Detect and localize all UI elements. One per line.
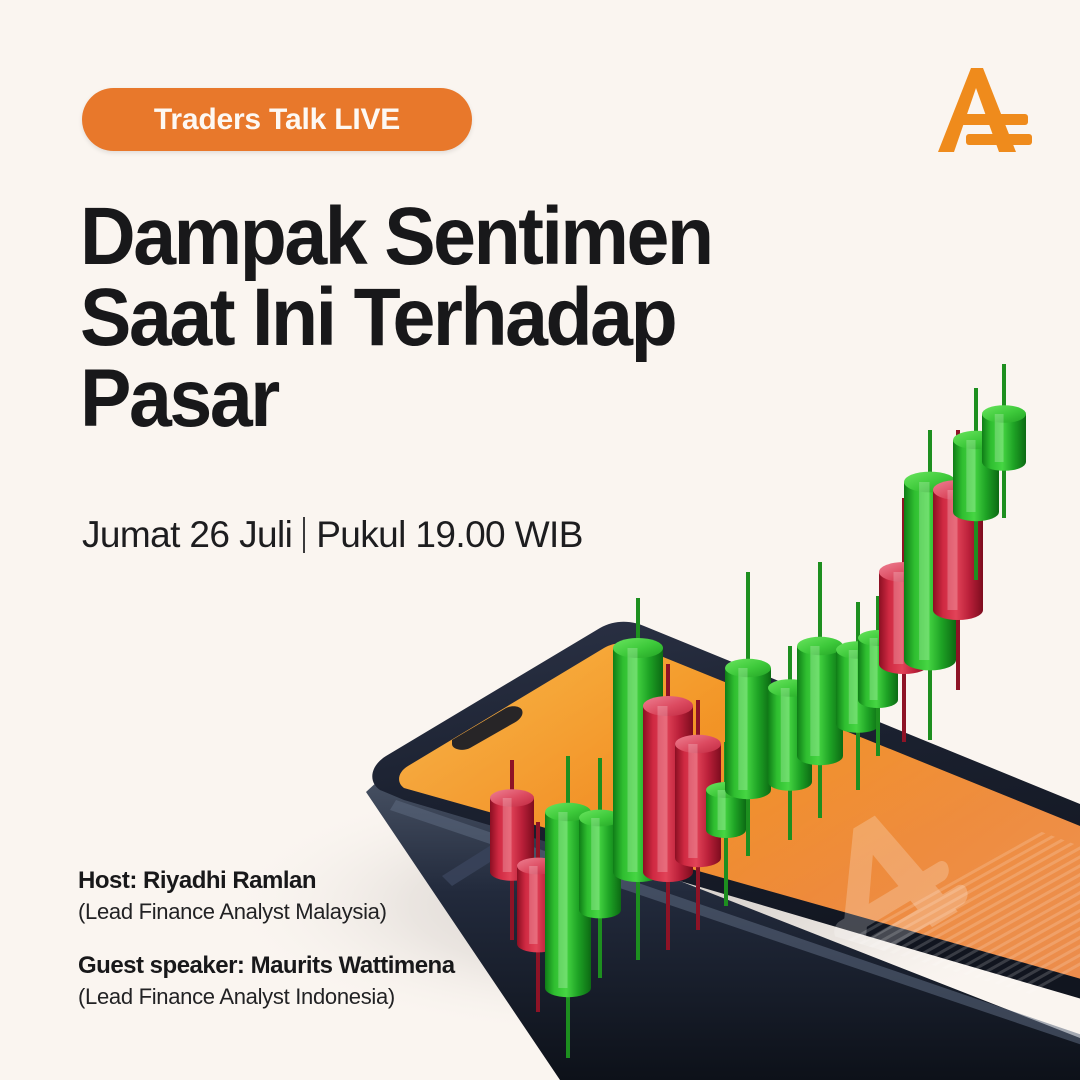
- brand-a-logo-icon: [936, 60, 1032, 160]
- host-name: Host: Riyadhi Ramlan: [78, 866, 455, 895]
- title-line-3: Pasar: [80, 358, 757, 439]
- host-role: (Lead Finance Analyst Malaysia): [78, 898, 455, 927]
- guest-role: (Lead Finance Analyst Indonesia): [78, 983, 455, 1012]
- live-badge-label: Traders Talk LIVE: [154, 103, 400, 137]
- title-line-1: Dampak Sentimen: [80, 196, 757, 277]
- speaker-credits: Host: Riyadhi Ramlan (Lead Finance Analy…: [78, 866, 455, 1012]
- event-time: Pukul 19.00 WIB: [316, 514, 583, 556]
- live-badge[interactable]: Traders Talk LIVE: [82, 88, 472, 151]
- event-date: Jumat 26 Juli: [82, 514, 292, 556]
- host-credit: Host: Riyadhi Ramlan (Lead Finance Analy…: [78, 866, 455, 927]
- page-title: Dampak Sentimen Saat Ini Terhadap Pasar: [80, 196, 800, 440]
- guest-credit: Guest speaker: Maurits Wattimena (Lead F…: [78, 951, 455, 1012]
- title-line-2: Saat Ini Terhadap: [80, 277, 757, 358]
- event-schedule: Jumat 26 Juli Pukul 19.00 WIB: [82, 514, 583, 556]
- schedule-separator: [303, 517, 305, 553]
- guest-name: Guest speaker: Maurits Wattimena: [78, 951, 455, 980]
- poster-canvas: Traders Talk LIVE Dampak Sentimen Saat I…: [0, 0, 1080, 1080]
